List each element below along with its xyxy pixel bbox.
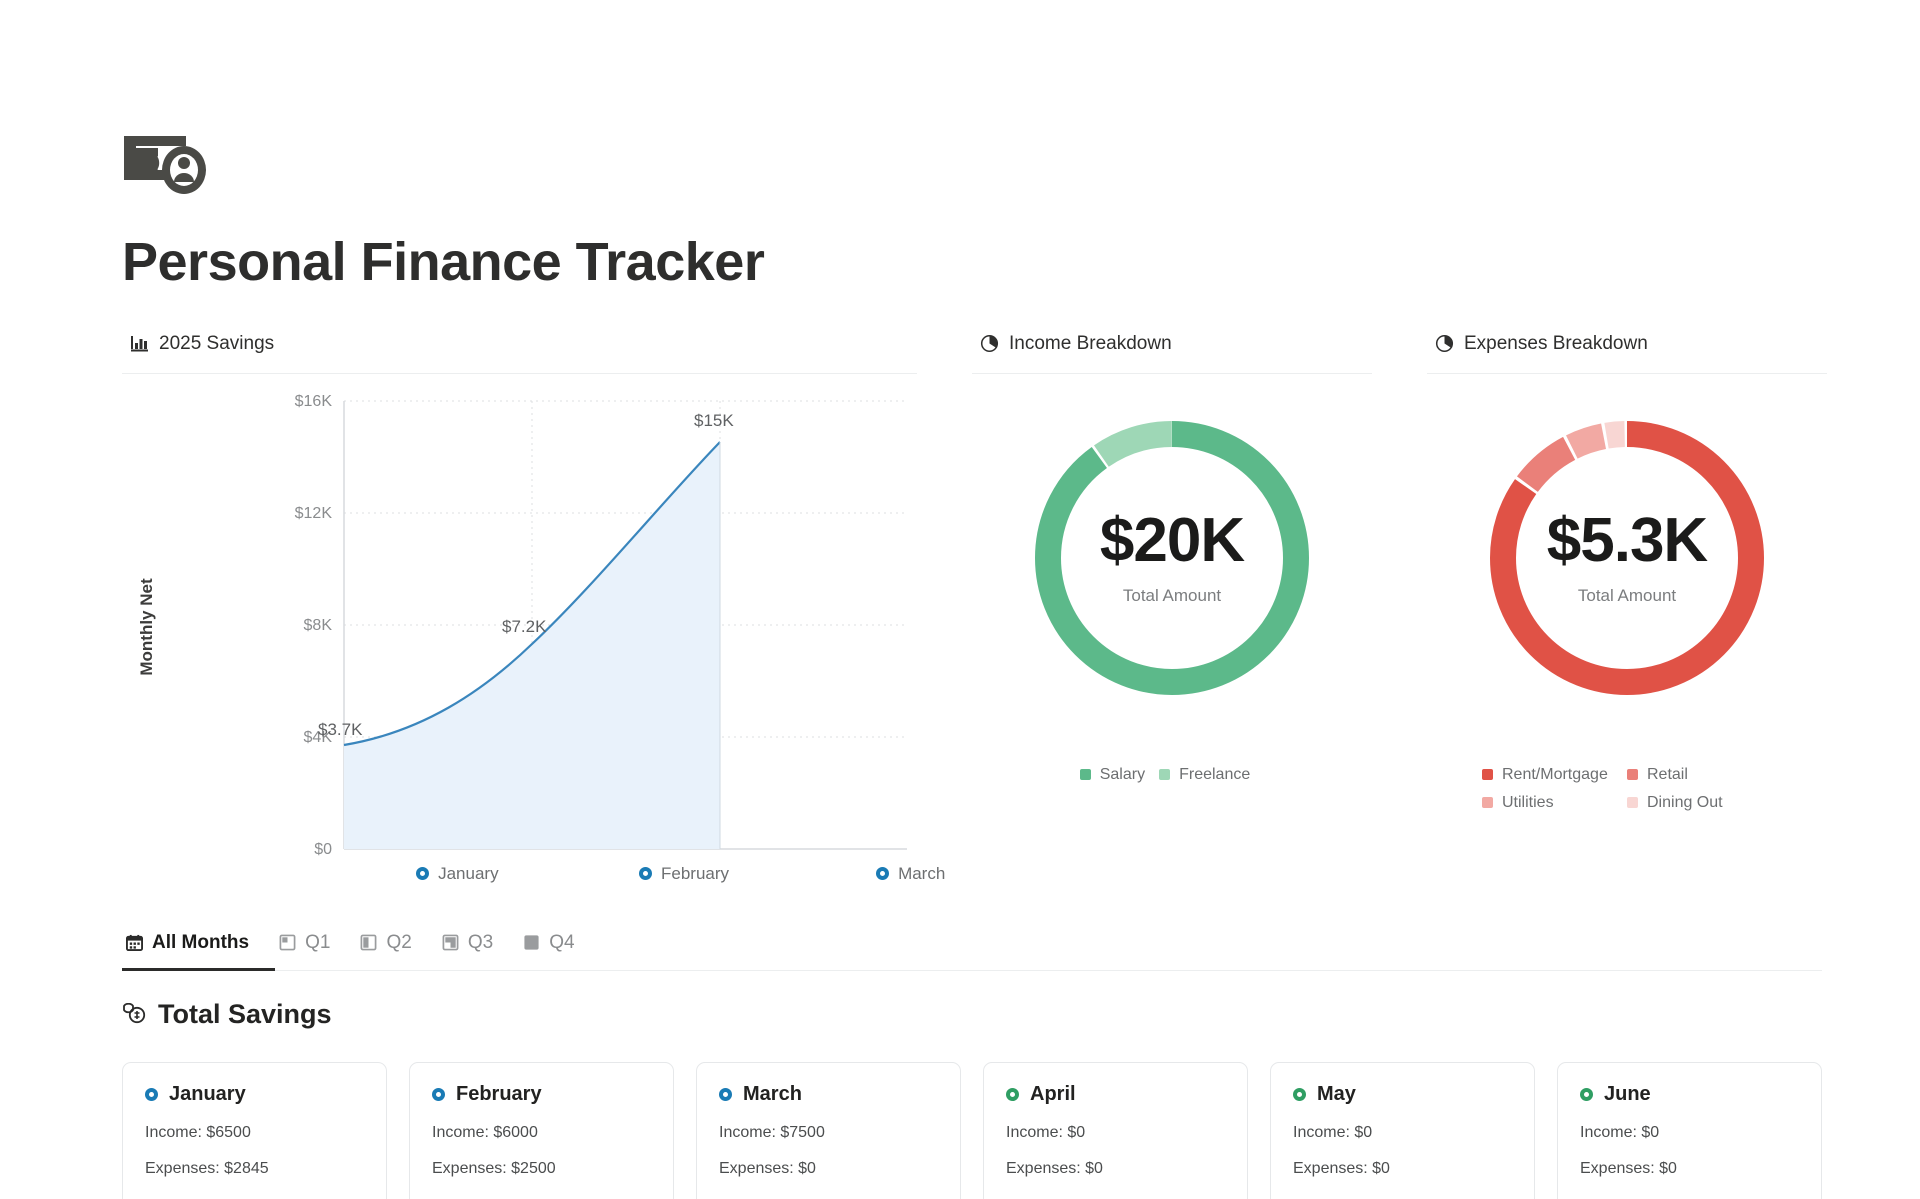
- half-square-icon: [360, 934, 377, 951]
- tab-label: Q4: [549, 932, 574, 954]
- savings-panel-title: 2025 Savings: [159, 333, 274, 355]
- month-card-header: May: [1293, 1083, 1512, 1106]
- ytick-label: $0: [314, 841, 332, 858]
- point-label: $3.7K: [318, 720, 363, 739]
- legend-item[interactable]: Retail: [1627, 766, 1772, 784]
- legend-item[interactable]: Dining Out: [1627, 794, 1772, 812]
- legend-swatch: [1159, 769, 1170, 780]
- donut-segment-salary: [1048, 434, 1296, 682]
- ring-icon: [432, 1088, 445, 1101]
- tab-label: All Months: [152, 932, 249, 954]
- legend-swatch: [1627, 769, 1638, 780]
- ytick-label: $8K: [304, 617, 333, 634]
- month-expenses: Expenses: $0: [1580, 1160, 1799, 1178]
- month-income: Income: $6000: [432, 1124, 651, 1142]
- month-name: March: [743, 1083, 802, 1106]
- dashboard-panels: 2025 Savings $16K $12K $8K $4K $0 Monthl…: [0, 333, 1920, 892]
- tab-q3[interactable]: Q3: [438, 932, 519, 971]
- month-expenses: Expenses: $2500: [432, 1160, 651, 1178]
- income-donut[interactable]: $20K Total Amount: [1028, 414, 1316, 702]
- month-income: Income: $0: [1293, 1124, 1512, 1142]
- legend-label: Utilities: [1502, 794, 1554, 812]
- month-name: February: [456, 1083, 542, 1106]
- month-income: Income: $6500: [145, 1124, 364, 1142]
- income-donut-svg: [1028, 414, 1316, 702]
- ring-icon: [639, 867, 652, 880]
- legend-item[interactable]: Freelance: [1159, 766, 1250, 784]
- legend-label: Rent/Mortgage: [1502, 766, 1608, 784]
- savings-panel-header: 2025 Savings: [122, 333, 917, 374]
- expenses-panel-header: Expenses Breakdown: [1427, 333, 1827, 374]
- bar-chart-icon: [130, 334, 149, 353]
- expenses-donut-svg: [1483, 414, 1771, 702]
- x-legend-label: March: [898, 864, 945, 884]
- income-panel: Income Breakdown $20K Total Amoun: [972, 333, 1372, 874]
- month-card[interactable]: April Income: $0 Expenses: $0: [983, 1062, 1248, 1199]
- legend-swatch: [1482, 797, 1493, 808]
- expenses-legend: Rent/Mortgage Retail Utilities Dining Ou…: [1482, 766, 1772, 822]
- x-legend-item[interactable]: March: [797, 864, 1024, 884]
- total-savings-title: Total Savings: [158, 999, 332, 1030]
- savings-chart[interactable]: $16K $12K $8K $4K $0 Monthly Net: [122, 392, 917, 892]
- month-card[interactable]: May Income: $0 Expenses: $0: [1270, 1062, 1535, 1199]
- month-card[interactable]: January Income: $6500 Expenses: $2845: [122, 1062, 387, 1199]
- income-donut-area: $20K Total Amount Salary Freelance: [972, 374, 1372, 874]
- month-income: Income: $0: [1006, 1124, 1225, 1142]
- ring-icon: [145, 1088, 158, 1101]
- point-label: $15K: [694, 411, 734, 430]
- x-legend-label: February: [661, 864, 729, 884]
- income-panel-header: Income Breakdown: [972, 333, 1372, 374]
- month-name: April: [1030, 1083, 1076, 1106]
- month-name: June: [1604, 1083, 1651, 1106]
- app-root: Personal Finance Tracker 2025 Savings $1…: [0, 0, 1920, 1199]
- ytick-label: $12K: [295, 505, 333, 522]
- pie-chart-icon: [1435, 334, 1454, 353]
- three-quarter-square-icon: [442, 934, 459, 951]
- x-legend-item[interactable]: January: [344, 864, 571, 884]
- y-axis-label: Monthly Net: [137, 578, 156, 676]
- month-card-header: February: [432, 1083, 651, 1106]
- month-card[interactable]: February Income: $6000 Expenses: $2500: [409, 1062, 674, 1199]
- x-legend-label: January: [438, 864, 498, 884]
- income-panel-title: Income Breakdown: [1009, 333, 1172, 355]
- month-cards: January Income: $6500 Expenses: $2845 Fe…: [122, 1062, 1822, 1199]
- expenses-donut[interactable]: $5.3K Total Amount: [1483, 414, 1771, 702]
- x-legend-item[interactable]: February: [571, 864, 798, 884]
- x-axis-legend: January February March: [344, 864, 1024, 884]
- savings-panel: 2025 Savings $16K $12K $8K $4K $0 Monthl…: [122, 333, 917, 892]
- ring-icon: [1580, 1088, 1593, 1101]
- month-income: Income: $7500: [719, 1124, 938, 1142]
- month-income: Income: $0: [1580, 1124, 1799, 1142]
- month-card[interactable]: June Income: $0 Expenses: $0: [1557, 1062, 1822, 1199]
- month-card-header: April: [1006, 1083, 1225, 1106]
- legend-item[interactable]: Utilities: [1482, 794, 1627, 812]
- page-title: Personal Finance Tracker: [122, 234, 1920, 291]
- legend-label: Retail: [1647, 766, 1688, 784]
- legend-swatch: [1080, 769, 1091, 780]
- legend-swatch: [1627, 797, 1638, 808]
- pie-chart-icon: [980, 334, 999, 353]
- income-legend: Salary Freelance: [1080, 766, 1265, 794]
- tab-all-months[interactable]: All Months: [122, 932, 275, 971]
- legend-swatch: [1482, 769, 1493, 780]
- ring-icon: [1006, 1088, 1019, 1101]
- legend-item[interactable]: Rent/Mortgage: [1482, 766, 1627, 784]
- legend-label: Dining Out: [1647, 794, 1723, 812]
- month-name: January: [169, 1083, 246, 1106]
- coins-icon: [122, 1003, 147, 1025]
- point-label: $7.2K: [502, 617, 547, 636]
- tab-label: Q3: [468, 932, 493, 954]
- expenses-panel: Expenses Breakdown: [1427, 333, 1827, 874]
- month-expenses: Expenses: $0: [719, 1160, 938, 1178]
- expenses-donut-area: $5.3K Total Amount Rent/Mortgage Retail: [1427, 374, 1827, 874]
- calendar-icon: [126, 934, 143, 951]
- total-savings-heading: Total Savings: [122, 999, 1920, 1030]
- month-card[interactable]: March Income: $7500 Expenses: $0: [696, 1062, 961, 1199]
- savings-chart-svg: $16K $12K $8K $4K $0 Monthly Net: [122, 392, 917, 862]
- full-square-icon: [523, 934, 540, 951]
- tab-q4[interactable]: Q4: [519, 932, 600, 971]
- quarter-square-icon: [279, 934, 296, 951]
- month-expenses: Expenses: $0: [1293, 1160, 1512, 1178]
- tab-q1[interactable]: Q1: [275, 932, 356, 971]
- month-card-header: January: [145, 1083, 364, 1106]
- ring-icon: [1293, 1088, 1306, 1101]
- month-name: May: [1317, 1083, 1356, 1106]
- legend-item[interactable]: Salary: [1080, 766, 1145, 784]
- month-expenses: Expenses: $0: [1006, 1160, 1225, 1178]
- month-card-header: June: [1580, 1083, 1799, 1106]
- legend-label: Freelance: [1179, 766, 1250, 784]
- legend-label: Salary: [1100, 766, 1145, 784]
- month-card-header: March: [719, 1083, 938, 1106]
- expenses-panel-title: Expenses Breakdown: [1464, 333, 1648, 355]
- tab-label: Q2: [386, 932, 411, 954]
- page-header: Personal Finance Tracker: [0, 0, 1920, 291]
- tab-q2[interactable]: Q2: [356, 932, 437, 971]
- ring-icon: [876, 867, 889, 880]
- ring-icon: [416, 867, 429, 880]
- ytick-label: $16K: [295, 393, 333, 410]
- tab-label: Q1: [305, 932, 330, 954]
- period-tabs: All Months Q1 Q2 Q3: [122, 932, 1822, 971]
- month-expenses: Expenses: $2845: [145, 1160, 364, 1178]
- ring-icon: [719, 1088, 732, 1101]
- money-person-icon: [122, 130, 220, 196]
